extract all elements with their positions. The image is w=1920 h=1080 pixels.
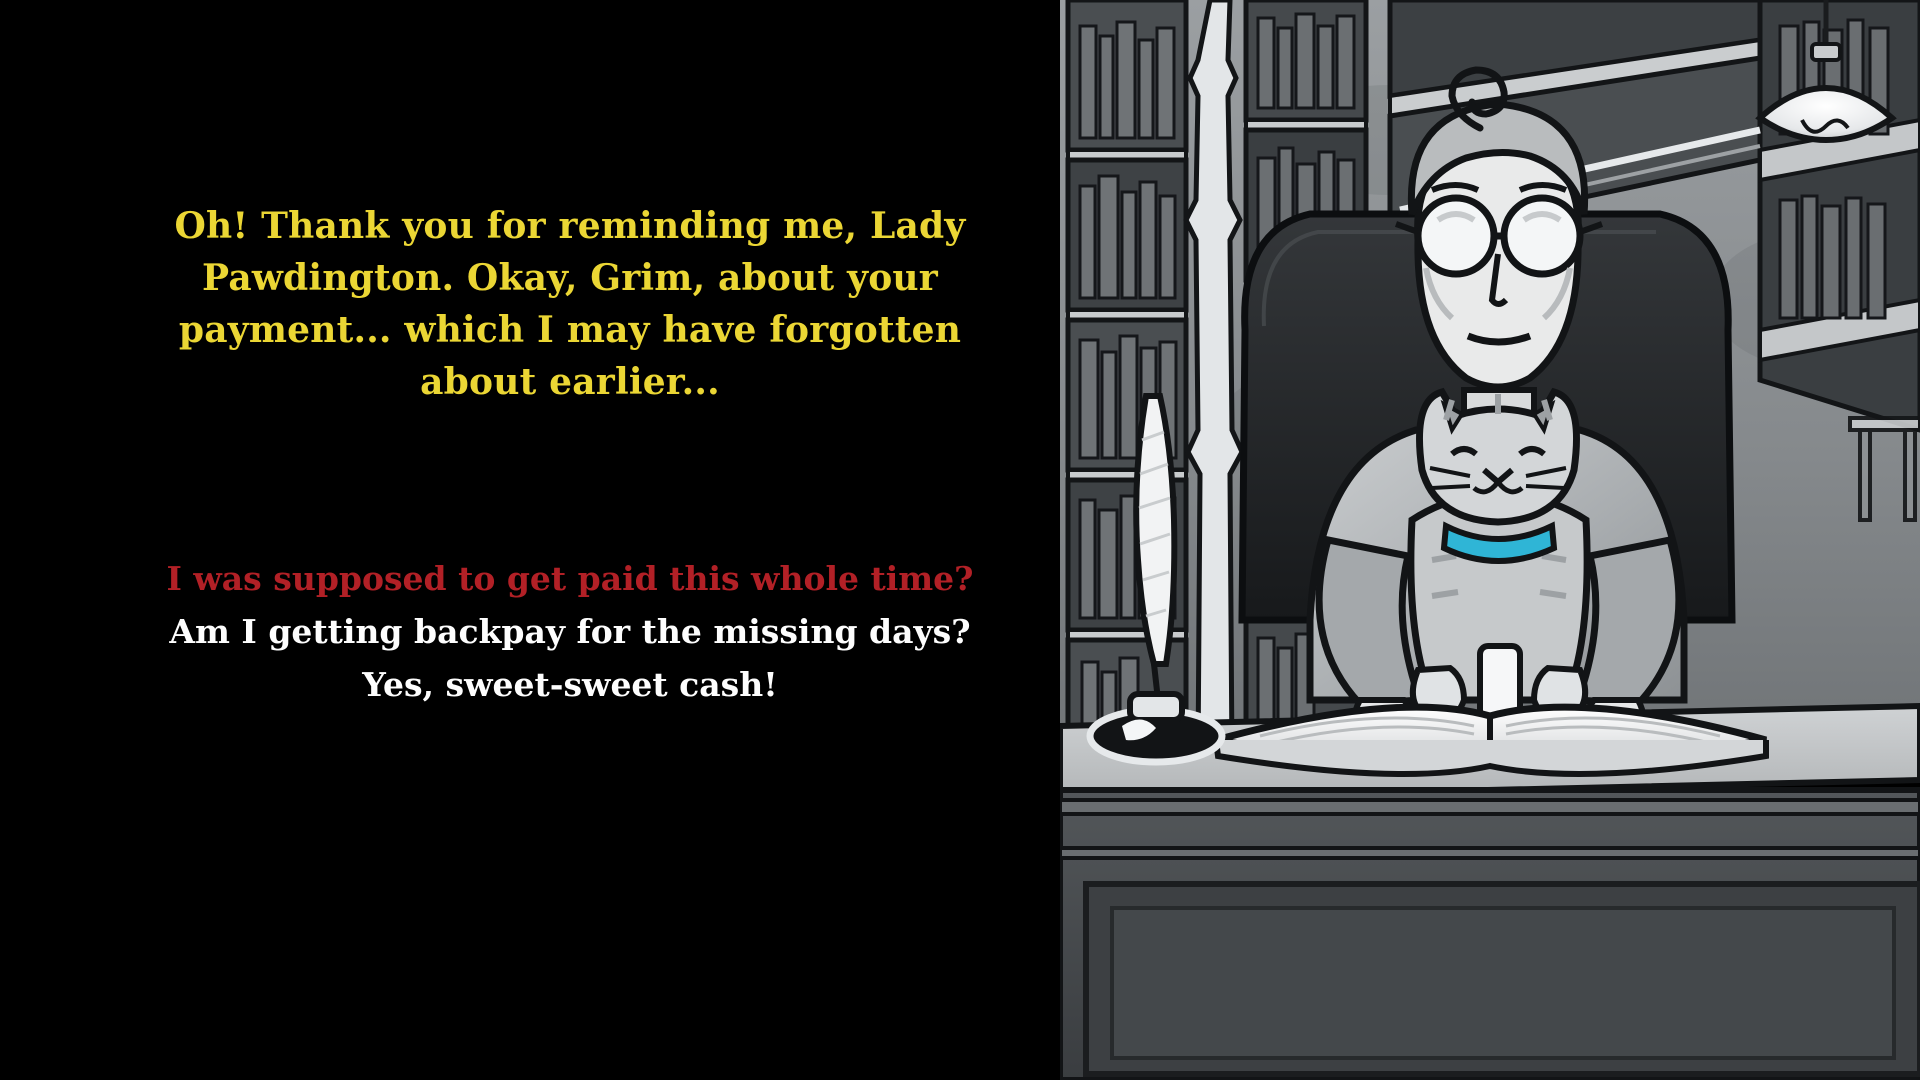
dialogue-line-secondary-2: Am I getting backpay for the missing day… — [130, 605, 1010, 658]
cat — [1411, 392, 1587, 719]
visual-novel-screen: Oh! Thank you for reminding me, Lady Paw… — [0, 0, 1920, 1080]
dialogue-line-primary-1: Oh! Thank you for reminding me, Lady — [175, 205, 966, 247]
dialogue-line-primary-2: Pawdington. Okay, Grim, about your — [202, 257, 938, 299]
dialogue-text-primary[interactable]: Oh! Thank you for reminding me, Lady Paw… — [130, 200, 1010, 408]
cat-held-object — [1480, 646, 1520, 718]
dialogue-line-primary-4: earlier... — [549, 361, 720, 403]
dialogue-line-secondary-3: Yes, sweet-sweet cash! — [130, 658, 1010, 711]
dialogue-text-secondary[interactable]: I was supposed to get paid this whole ti… — [130, 552, 1010, 711]
dialogue-column[interactable]: Oh! Thank you for reminding me, Lady Paw… — [0, 0, 1300, 1080]
dialogue-line-secondary-1: I was supposed to get paid this whole ti… — [130, 552, 1010, 605]
